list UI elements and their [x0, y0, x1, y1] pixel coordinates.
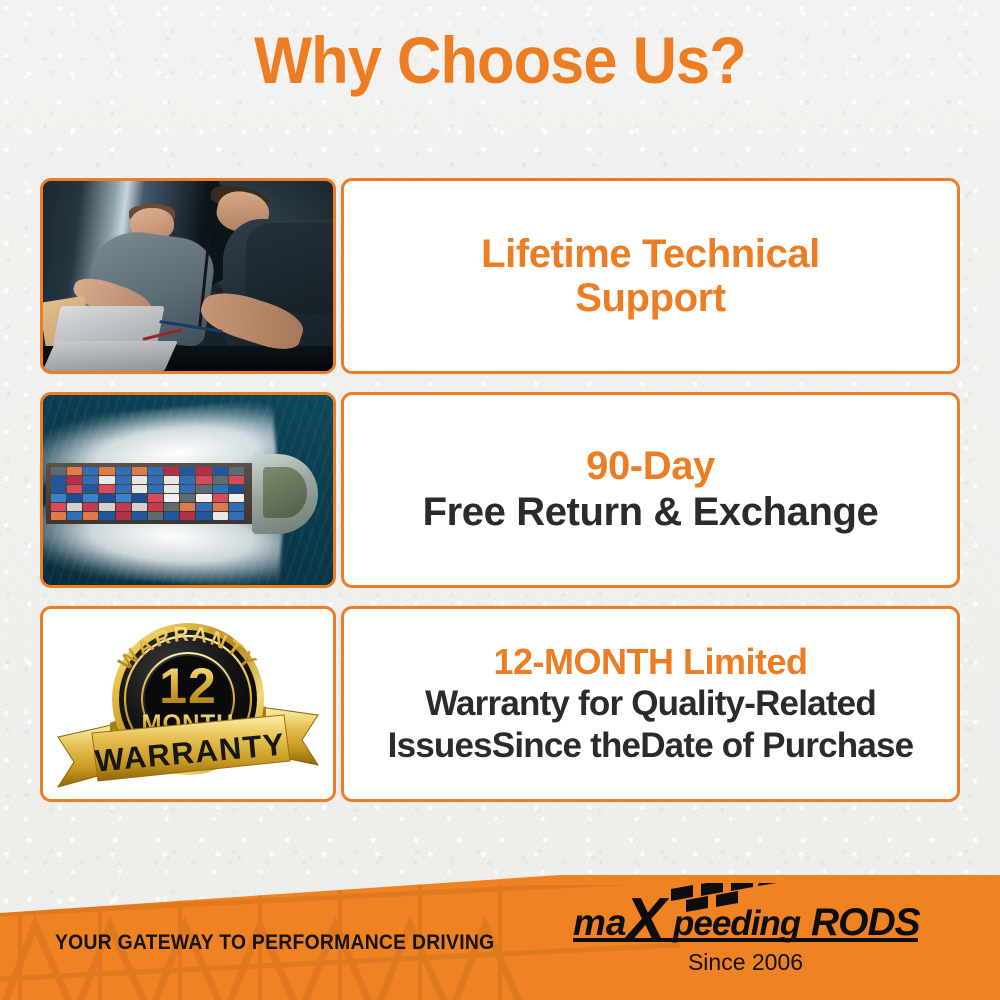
feature-image-mechanics: [40, 178, 336, 374]
feature-subtext-line2: IssuesSince theDate of Purchase: [388, 725, 914, 767]
feature-row-free-return-exchange: 90-Day Free Return & Exchange: [40, 392, 960, 588]
feature-text-lifetime-technical-support: Lifetime Technical Support: [341, 178, 960, 374]
logo-text-peeding: peeding: [672, 904, 801, 943]
footer-bar: YOUR GATEWAY TO PERFORMANCE DRIVING ma X…: [0, 875, 1000, 1000]
logo-text-rods: RODS: [811, 901, 921, 944]
feature-row-lifetime-technical-support: Lifetime Technical Support: [40, 178, 960, 374]
warranty-seal-icon: WARRANTY 12 MONTH WARRANTY: [52, 611, 324, 797]
feature-headline-line1: Lifetime Technical: [481, 232, 820, 276]
brand-logo[interactable]: ma X peeding RODS Since 2006: [573, 883, 933, 995]
logo-text-ma: ma: [573, 902, 626, 943]
logo-text-x: X: [622, 886, 670, 953]
promo-page: Why Choose Us? L: [0, 0, 1000, 1000]
feature-image-warranty-badge: WARRANTY 12 MONTH WARRANTY: [40, 606, 336, 802]
feature-headline: 90-Day: [586, 444, 715, 490]
feature-headline: 12-MONTH Limited: [493, 641, 807, 683]
feature-headline-line2: Support: [575, 276, 726, 320]
feature-row-limited-warranty: WARRANTY 12 MONTH WARRANTY 12-MONTH Limi…: [40, 606, 960, 802]
feature-image-cargo-ship: [40, 392, 336, 588]
logo-since-text: Since 2006: [573, 949, 918, 976]
maxpeedingrods-logomark: ma X peeding RODS: [573, 883, 933, 953]
badge-number: 12: [159, 658, 217, 714]
feature-subtext-line1: Warranty for Quality-Related: [425, 683, 876, 725]
feature-text-limited-warranty: 12-MONTH Limited Warranty for Quality-Re…: [341, 606, 960, 802]
page-title: Why Choose Us?: [35, 22, 965, 98]
feature-text-free-return-exchange: 90-Day Free Return & Exchange: [341, 392, 960, 588]
footer-tagline: YOUR GATEWAY TO PERFORMANCE DRIVING: [55, 931, 494, 955]
feature-subtext: Free Return & Exchange: [423, 490, 879, 536]
